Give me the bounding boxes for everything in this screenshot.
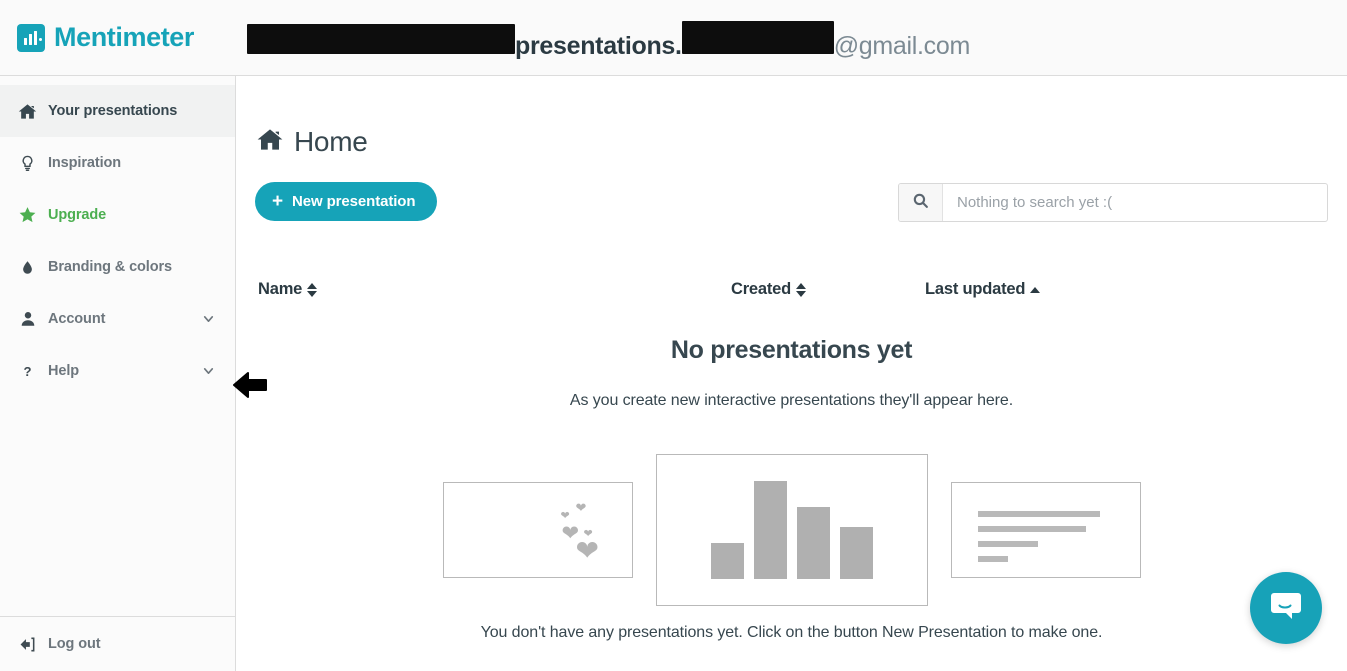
sort-ascending-icon[interactable] <box>1030 287 1040 293</box>
bar-chart-logo-icon <box>17 24 45 52</box>
heart-icon: ❤ <box>561 511 570 522</box>
account-title-suffix: @gmail.com <box>834 32 970 60</box>
sidebar-item-label: Inspiration <box>48 155 121 171</box>
column-header-name[interactable]: Name <box>258 280 317 299</box>
question-mark-icon: ? <box>18 362 37 381</box>
sidebar-item-label: Your presentations <box>48 103 177 119</box>
empty-state-heading: No presentations yet <box>236 336 1347 365</box>
empty-state-subtext: As you create new interactive presentati… <box>236 392 1347 410</box>
sidebar-item-branding-colors[interactable]: Branding & colors <box>0 241 235 293</box>
chat-widget-button[interactable] <box>1250 572 1322 644</box>
illustration-bar <box>754 481 787 579</box>
chevron-down-icon[interactable] <box>202 365 215 378</box>
account-title: presentations.@gmail.com <box>247 21 970 61</box>
illustration-line <box>978 511 1100 517</box>
empty-state: No presentations yet As you create new i… <box>236 336 1347 410</box>
home-icon <box>256 126 284 158</box>
illustration-line <box>978 526 1086 532</box>
sidebar: Your presentations Inspiration Upgrade B… <box>0 76 236 671</box>
heart-icon: ❤ <box>576 501 587 514</box>
sidebar-item-label: Upgrade <box>48 207 106 223</box>
sidebar-item-label: Help <box>48 363 79 379</box>
page-title: Home <box>256 126 1347 158</box>
lightbulb-icon <box>18 154 37 173</box>
column-label: Created <box>731 280 791 299</box>
illustration-bar <box>840 527 873 579</box>
sidebar-item-help[interactable]: ? Help <box>0 345 235 397</box>
chevron-down-icon[interactable] <box>202 313 215 326</box>
illustration-cards: ❤ ❤ ❤ ❤ ❤ <box>236 450 1347 610</box>
new-presentation-label: New presentation <box>292 193 415 210</box>
brand-logo[interactable]: Mentimeter <box>17 22 194 53</box>
user-icon <box>18 310 37 329</box>
column-header-last-updated[interactable]: Last updated <box>925 280 1040 299</box>
text-lines-illustration-card <box>951 482 1141 578</box>
top-bar: Mentimeter presentations.@gmail.com <box>0 0 1347 76</box>
sidebar-item-label: Branding & colors <box>48 259 172 275</box>
presentations-table-header: Name Created Last updated <box>236 274 1347 316</box>
svg-text:?: ? <box>23 363 31 378</box>
illustration-bar <box>711 543 744 579</box>
redacted-email-block <box>682 21 834 54</box>
sort-both-icon[interactable] <box>796 283 806 297</box>
heart-icon: ❤ <box>576 537 599 565</box>
chat-bubble-icon <box>1269 590 1303 627</box>
sort-both-icon[interactable] <box>307 283 317 297</box>
sidebar-nav: Your presentations Inspiration Upgrade B… <box>0 76 235 397</box>
search-button[interactable] <box>899 184 943 221</box>
column-header-created[interactable]: Created <box>731 280 806 299</box>
illustration-lines <box>978 511 1100 562</box>
new-presentation-button[interactable]: + New presentation <box>255 182 437 221</box>
logout-label: Log out <box>48 636 100 652</box>
left-arrow-annotation-icon <box>231 368 271 402</box>
sidebar-item-label: Account <box>48 311 105 327</box>
account-title-middle: presentations. <box>515 32 682 60</box>
search-input[interactable] <box>943 184 1327 221</box>
sidebar-item-your-presentations[interactable]: Your presentations <box>0 85 235 137</box>
hearts-illustration-card: ❤ ❤ ❤ ❤ ❤ <box>443 482 633 578</box>
illustration-line <box>978 556 1008 562</box>
redacted-name-block <box>247 24 515 54</box>
logout-icon <box>18 635 37 654</box>
droplet-icon <box>18 258 37 277</box>
column-label: Last updated <box>925 280 1025 299</box>
home-icon <box>18 102 37 121</box>
star-icon <box>18 206 37 225</box>
sidebar-item-inspiration[interactable]: Inspiration <box>0 137 235 189</box>
search-icon <box>912 192 929 214</box>
search-bar <box>898 183 1328 222</box>
illustration-line <box>978 541 1038 547</box>
sidebar-item-account[interactable]: Account <box>0 293 235 345</box>
empty-state-bottom-note: You don't have any presentations yet. Cl… <box>236 624 1347 642</box>
page-title-text: Home <box>294 126 368 158</box>
sidebar-item-upgrade[interactable]: Upgrade <box>0 189 235 241</box>
mentimeter-app: Mentimeter presentations.@gmail.com Your… <box>0 0 1347 671</box>
illustration-bar <box>797 507 830 579</box>
column-label: Name <box>258 280 302 299</box>
main-content: Home + New presentation Name Created <box>236 76 1347 671</box>
brand-name: Mentimeter <box>54 22 194 53</box>
bar-chart-illustration-card <box>656 454 928 606</box>
illustration-bars <box>657 479 927 579</box>
plus-icon: + <box>272 192 283 211</box>
logout-button[interactable]: Log out <box>0 616 235 671</box>
